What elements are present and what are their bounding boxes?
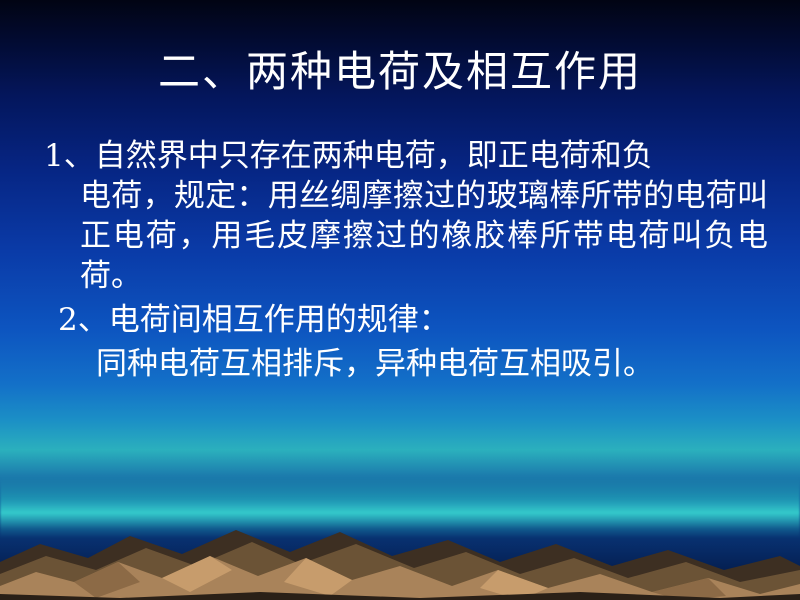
presentation-slide: 二、两种电荷及相互作用 1、自然界中只存在两种电荷，即正电荷和负 电荷，规定：用… [0,0,800,600]
slide-content: 二、两种电荷及相互作用 1、自然界中只存在两种电荷，即正电荷和负 电荷，规定：用… [0,0,800,600]
slide-title: 二、两种电荷及相互作用 [0,38,800,99]
body-paragraph-2: 2、电荷间相互作用的规律： [44,300,768,340]
body-paragraph-2-detail: 同种电荷互相排斥，异种电荷互相吸引。 [44,344,768,384]
body-paragraph-1-rest: 电荷，规定：用丝绸摩擦过的玻璃棒所带的电荷叫正电荷，用毛皮摩擦过的橡胶棒所带电荷… [44,176,768,296]
body-paragraph-1: 1、自然界中只存在两种电荷，即正电荷和负 电荷，规定：用丝绸摩擦过的玻璃棒所带的… [44,136,768,296]
body-paragraph-1-lead: 1、自然界中只存在两种电荷，即正电荷和负 [44,138,653,174]
slide-body: 1、自然界中只存在两种电荷，即正电荷和负 电荷，规定：用丝绸摩擦过的玻璃棒所带的… [44,136,768,386]
